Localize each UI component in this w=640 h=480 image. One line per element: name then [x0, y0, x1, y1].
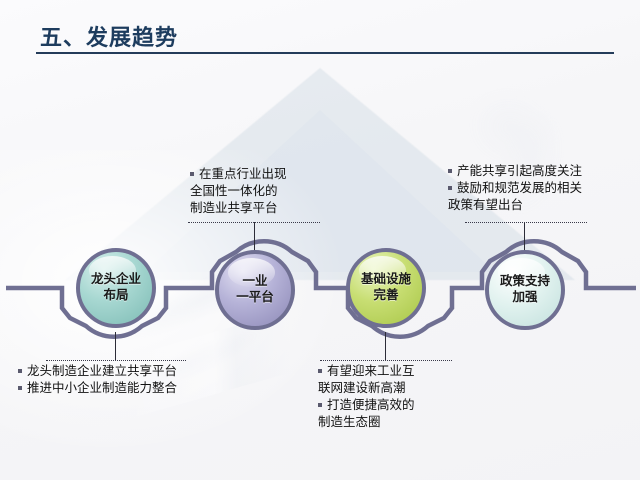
node-4-label: 政策支持 加强 — [496, 274, 554, 305]
node-1-label-line1: 龙头企业 — [91, 272, 141, 288]
node-1-label: 龙头企业 布局 — [87, 272, 145, 303]
callout-1-dotted-rule — [46, 360, 186, 361]
callout-1-line-2: 推进中小企业制造能力整合 — [18, 380, 177, 397]
node-3-label-line2: 完善 — [361, 288, 411, 304]
callout-3: 有望迎来工业互 联网建设新高潮 打造便捷高效的 制造生态圈 — [318, 363, 415, 431]
callout-2-line-3: 制造业共享平台 — [190, 200, 287, 217]
node-3-label-line1: 基础设施 — [361, 272, 411, 288]
callout-4-line-1: 产能共享引起高度关注 — [448, 163, 582, 180]
callout-4: 产能共享引起高度关注 鼓励和规范发展的相关 政策有望出台 — [448, 163, 582, 214]
node-2-label-line2: 一平台 — [236, 290, 274, 306]
callout-2: 在重点行业出现 全国性一体化的 制造业共享平台 — [190, 166, 287, 217]
callout-2-line-1: 在重点行业出现 — [190, 166, 287, 183]
node-4-label-line2: 加强 — [500, 290, 550, 306]
callout-2-dotted-rule — [188, 222, 320, 223]
node-3-label: 基础设施 完善 — [357, 272, 415, 303]
slide-canvas: 五、发展趋势 龙头企业 布局 龙头制造企业建立共享平台 推进中小企业制造能力整合… — [0, 0, 640, 480]
node-2-label-line1: 一业 — [236, 274, 274, 290]
callout-3-line-3: 打造便捷高效的 — [318, 397, 415, 414]
node-2-label: 一业 一平台 — [232, 274, 278, 305]
callout-3-line-2: 联网建设新高潮 — [318, 380, 415, 397]
callout-1: 龙头制造企业建立共享平台 推进中小企业制造能力整合 — [18, 363, 177, 397]
callout-2-stem — [254, 222, 255, 252]
callout-4-stem — [524, 222, 525, 252]
callout-2-line-2: 全国性一体化的 — [190, 183, 287, 200]
callout-3-line-4: 制造生态圈 — [318, 414, 415, 431]
node-4-label-line1: 政策支持 — [500, 274, 550, 290]
node-1-label-line2: 布局 — [91, 288, 141, 304]
callout-4-dotted-rule — [465, 222, 587, 223]
callout-1-line-1: 龙头制造企业建立共享平台 — [18, 363, 177, 380]
callout-3-dotted-rule — [320, 360, 452, 361]
callout-1-stem — [115, 332, 116, 360]
callout-3-stem — [385, 332, 386, 360]
callout-4-line-2: 鼓励和规范发展的相关 — [448, 180, 582, 197]
callout-4-line-3: 政策有望出台 — [448, 197, 582, 214]
callout-3-line-1: 有望迎来工业互 — [318, 363, 415, 380]
